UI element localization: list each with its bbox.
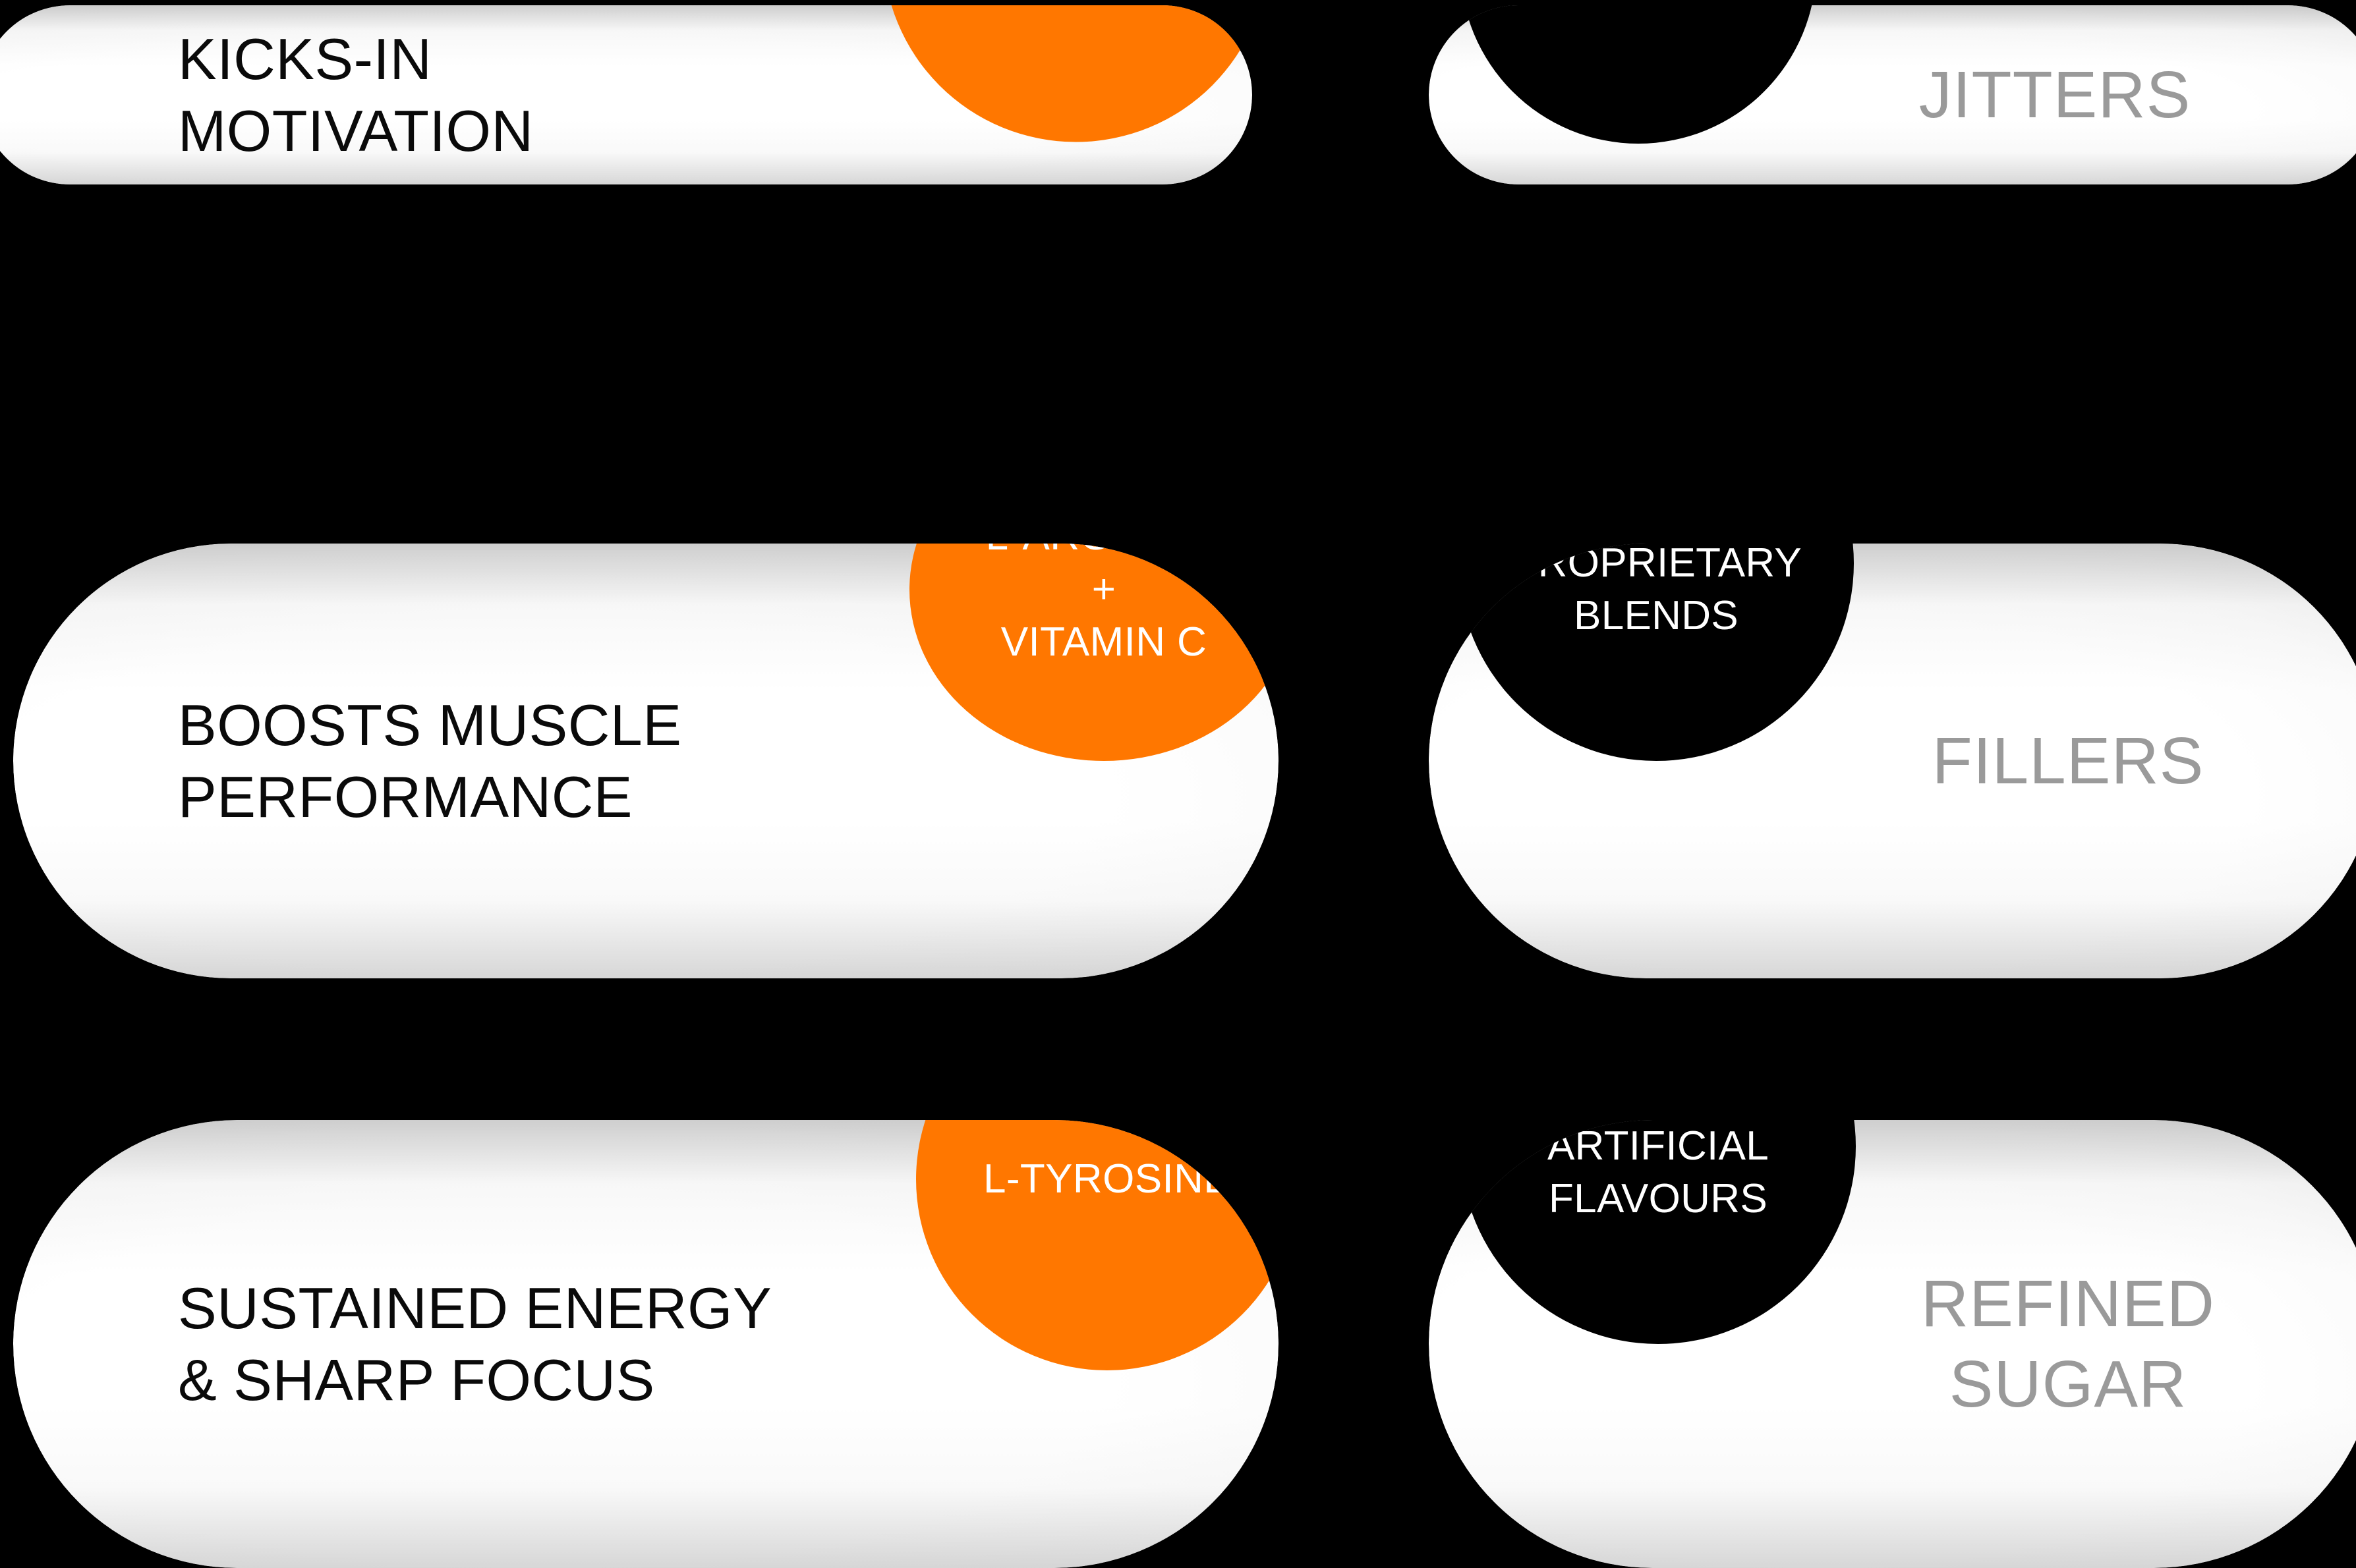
avoided-label-row-1: JITTERS <box>1851 55 2259 135</box>
avoided-label-row-3: REFINED SUGAR <box>1857 1264 2279 1424</box>
exclusion-card-row-1: NO BETA- ALININE JITTERS <box>1429 5 2356 184</box>
ingredient-label-row-3: L-TYROSINE <box>983 1153 1231 1206</box>
benefits-comparison-board: KICKS-IN MOTIVATION CAFFEINE NO BETA- AL… <box>0 0 2356 1542</box>
exclusion-claim-row-1: NO BETA- ALININE <box>1543 5 1735 18</box>
exclusion-card-row-3: NO ARTIFICIAL FLAVOURS REFINED SUGAR <box>1429 1120 2356 1568</box>
exclusion-card-row-2: NO PROPRIETARY BLENDS FILLERS <box>1429 544 2356 978</box>
exclusion-claim-row-3: NO ARTIFICIAL FLAVOURS <box>1547 1120 1769 1225</box>
benefit-title-row-1: KICKS-IN MOTIVATION <box>178 23 534 167</box>
benefit-title-row-2: BOOSTS MUSCLE PERFORMANCE <box>178 689 681 833</box>
ingredient-label-row-2: L-ARGININE + VITAMIN C <box>986 544 1222 669</box>
avoided-label-row-2: FILLERS <box>1864 721 2272 801</box>
benefit-card-row-1: KICKS-IN MOTIVATION CAFFEINE <box>0 5 1252 184</box>
exclusion-claim-row-2: NO PROPRIETARY BLENDS <box>1510 544 1802 642</box>
benefit-card-row-2: BOOSTS MUSCLE PERFORMANCE L-ARGININE + V… <box>13 544 1279 978</box>
benefit-card-row-3: SUSTAINED ENERGY & SHARP FOCUS L-TYROSIN… <box>13 1120 1279 1568</box>
benefit-title-row-3: SUSTAINED ENERGY & SHARP FOCUS <box>178 1272 772 1416</box>
